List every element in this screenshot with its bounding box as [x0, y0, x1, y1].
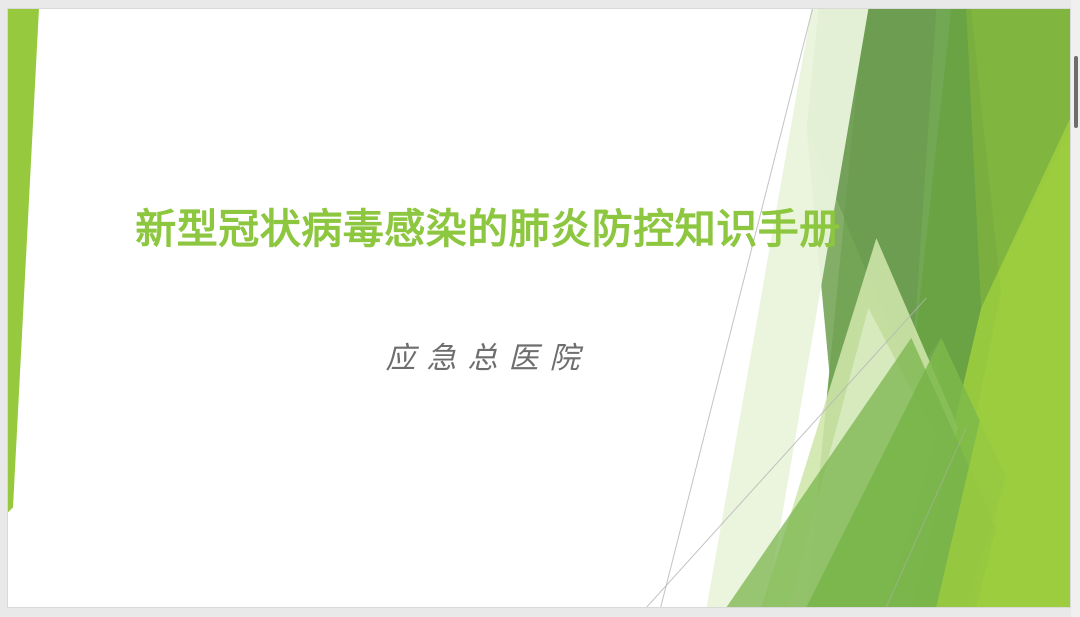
slide-viewport: 新型冠状病毒感染的肺炎防控知识手册 应急总医院 — [0, 0, 1080, 617]
slide-subtitle: 应急总医院 — [8, 333, 968, 377]
subtitle-block: 应急总医院 — [8, 333, 968, 377]
slide-canvas: 新型冠状病毒感染的肺炎防控知识手册 应急总医院 — [7, 8, 1071, 608]
page-title: 新型冠状病毒感染的肺炎防控知识手册 — [8, 205, 968, 253]
vertical-scrollbar-thumb[interactable] — [1074, 56, 1078, 128]
title-block: 新型冠状病毒感染的肺炎防控知识手册 — [8, 205, 968, 253]
decorative-background-art — [8, 9, 1070, 607]
left-green-wedge-shape — [8, 9, 39, 512]
